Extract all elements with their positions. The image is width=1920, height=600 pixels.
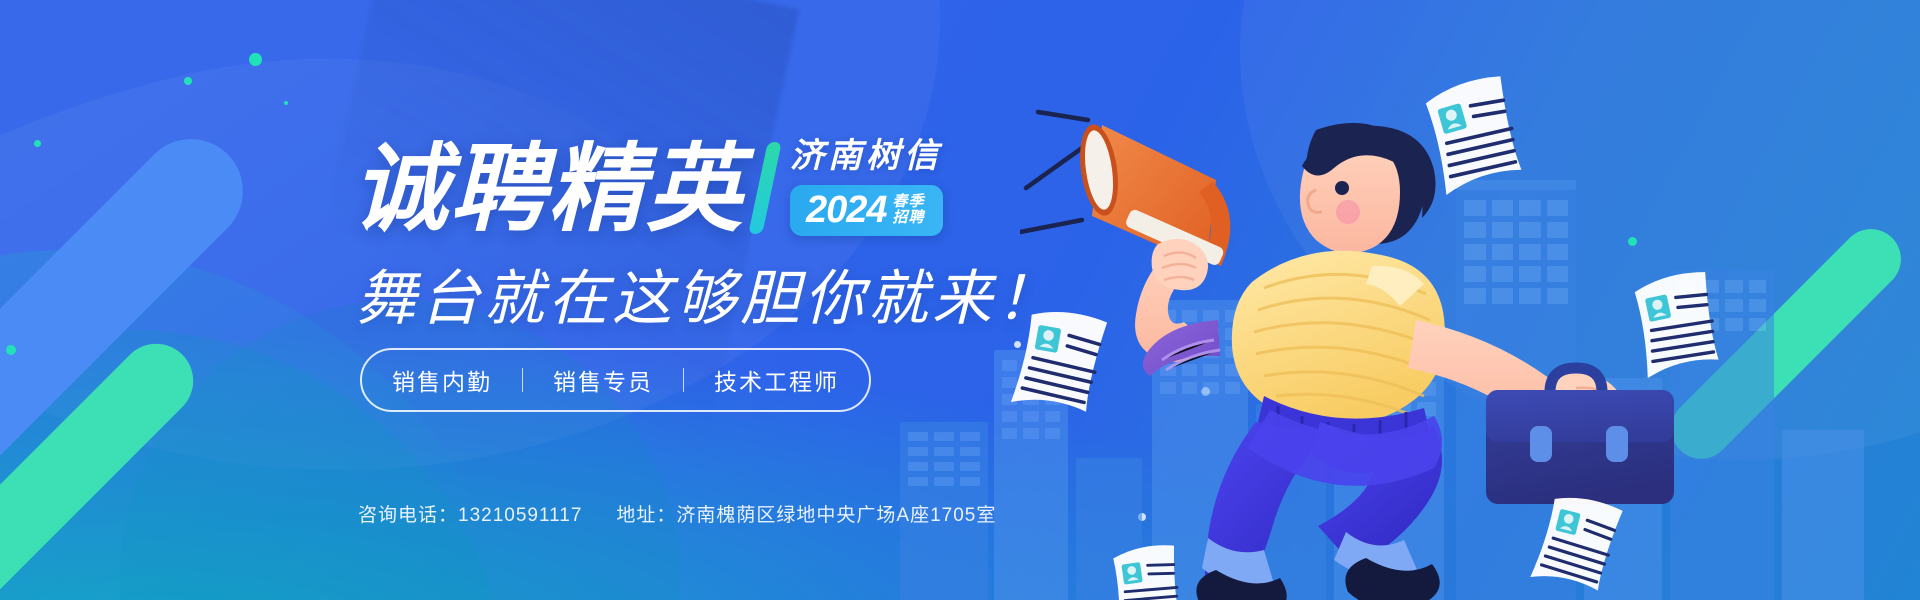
- megaphone-icon: [1075, 122, 1231, 267]
- job-positions-pill: 销售内勤 销售专员 技术工程师: [360, 348, 871, 412]
- job-item-sales-assistant[interactable]: 销售内勤: [392, 363, 492, 397]
- building: [1782, 430, 1864, 600]
- job-separator: [522, 368, 523, 392]
- running-businessman-illustration: [1020, 70, 1740, 600]
- badge-year: 2024: [806, 191, 887, 229]
- contact-info: 咨询电话：13210591117 地址：济南槐荫区绿地中央广场A座1705室: [358, 500, 996, 527]
- job-item-technical-engineer[interactable]: 技术工程师: [714, 363, 839, 397]
- hero-illustration: [1020, 70, 1740, 600]
- job-item-sales-specialist[interactable]: 销售专员: [553, 363, 653, 397]
- green-slash-accent: [748, 142, 782, 234]
- contact-phone: 咨询电话：13210591117: [358, 500, 582, 527]
- recruitment-banner: 诚聘精英 济南树信 2024 春季 招聘 舞台就在这够胆你就来！ 销售内勤 销售…: [0, 0, 1920, 600]
- contact-address: 地址：济南槐荫区绿地中央广场A座1705室: [616, 500, 996, 527]
- badge-subtext: 春季 招聘: [893, 194, 925, 226]
- badge-subtext-line1: 春季: [893, 194, 925, 210]
- brand-block: 济南树信 2024 春季 招聘: [790, 128, 943, 236]
- company-name: 济南树信: [790, 128, 943, 177]
- banner-content: 诚聘精英 济南树信 2024 春季 招聘 舞台就在这够胆你就来！ 销售内勤 销售…: [0, 0, 1100, 600]
- badge-subtext-line2: 招聘: [893, 210, 925, 226]
- eye: [1335, 181, 1349, 195]
- headline-row: 诚聘精英 济南树信 2024 春季 招聘: [352, 128, 943, 238]
- subtitle: 舞台就在这够胆你就来！: [356, 250, 1060, 337]
- cheek: [1336, 200, 1360, 224]
- sound-lines-icon: [1020, 112, 1088, 232]
- job-separator: [683, 368, 684, 392]
- season-badge: 2024 春季 招聘: [790, 185, 943, 236]
- page-title: 诚聘精英: [352, 142, 744, 238]
